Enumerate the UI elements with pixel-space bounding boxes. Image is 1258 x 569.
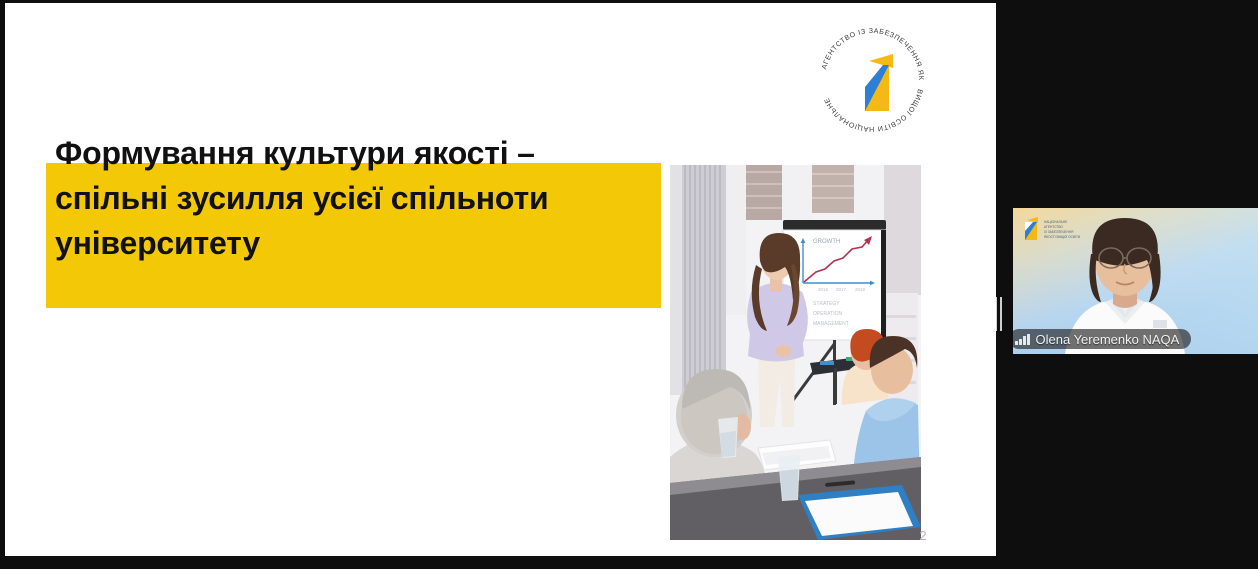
meeting-window: АГЕНТСТВО ІЗ ЗАБЕЗПЕЧЕННЯ ЯКОСТІ ВИЩОЇ О… [0,0,1258,569]
svg-text:MANAGEMENT: MANAGEMENT [813,321,849,327]
participant-name-label: Olena Yeremenko NAQA [1013,329,1191,349]
naqa-logo-small: НАЦІОНАЛЬНЕ АГЕНТСТВО ІЗ ЗАБЕЗПЕЧЕННЯ ЯК… [1021,216,1099,242]
slide-title-block: Формування культури якості – спільні зус… [46,125,666,266]
page-title: Формування культури якості – спільні зус… [46,125,666,266]
drag-handle-icon[interactable] [993,296,1004,332]
svg-text:STRATEGY: STRATEGY [813,301,840,307]
svg-text:2018: 2018 [855,287,866,292]
title-line-1: Формування культури якості – [55,131,658,176]
svg-text:2017: 2017 [836,287,847,292]
screen-share-region[interactable]: АГЕНТСТВО ІЗ ЗАБЕЗПЕЧЕННЯ ЯКОСТІ ВИЩОЇ О… [5,3,996,556]
svg-text:2016: 2016 [818,287,829,292]
svg-text:GROWTH: GROWTH [813,239,840,245]
title-line-3: університету [55,221,658,266]
svg-text:ЯКОСТІ ВИЩОЇ ОСВІТИ: ЯКОСТІ ВИЩОЇ ОСВІТИ [1044,235,1081,239]
slide-photo: GROWTH 201620172018 STRATEGY OPERATION M… [670,165,921,540]
title-line-2: спільні зусилля усієї спільноти [55,176,658,221]
svg-text:OPERATION: OPERATION [813,311,842,317]
participant-video-tile[interactable]: НАЦІОНАЛЬНЕ АГЕНТСТВО ІЗ ЗАБЕЗПЕЧЕННЯ ЯК… [1013,208,1258,354]
svg-text:НАЦІОНАЛЬНЕ: НАЦІОНАЛЬНЕ [1044,220,1067,224]
naqa-circular-logo: АГЕНТСТВО ІЗ ЗАБЕЗПЕЧЕННЯ ЯКОСТІ ВИЩОЇ О… [813,21,931,139]
participant-name: Olena Yeremenko NAQA [1036,332,1180,347]
signal-bars-icon [1015,334,1030,345]
slide-number: 2 [913,527,933,545]
svg-text:ІЗ ЗАБЕЗПЕЧЕННЯ: ІЗ ЗАБЕЗПЕЧЕННЯ [1044,230,1074,234]
svg-text:АГЕНТСТВО: АГЕНТСТВО [1044,225,1063,229]
